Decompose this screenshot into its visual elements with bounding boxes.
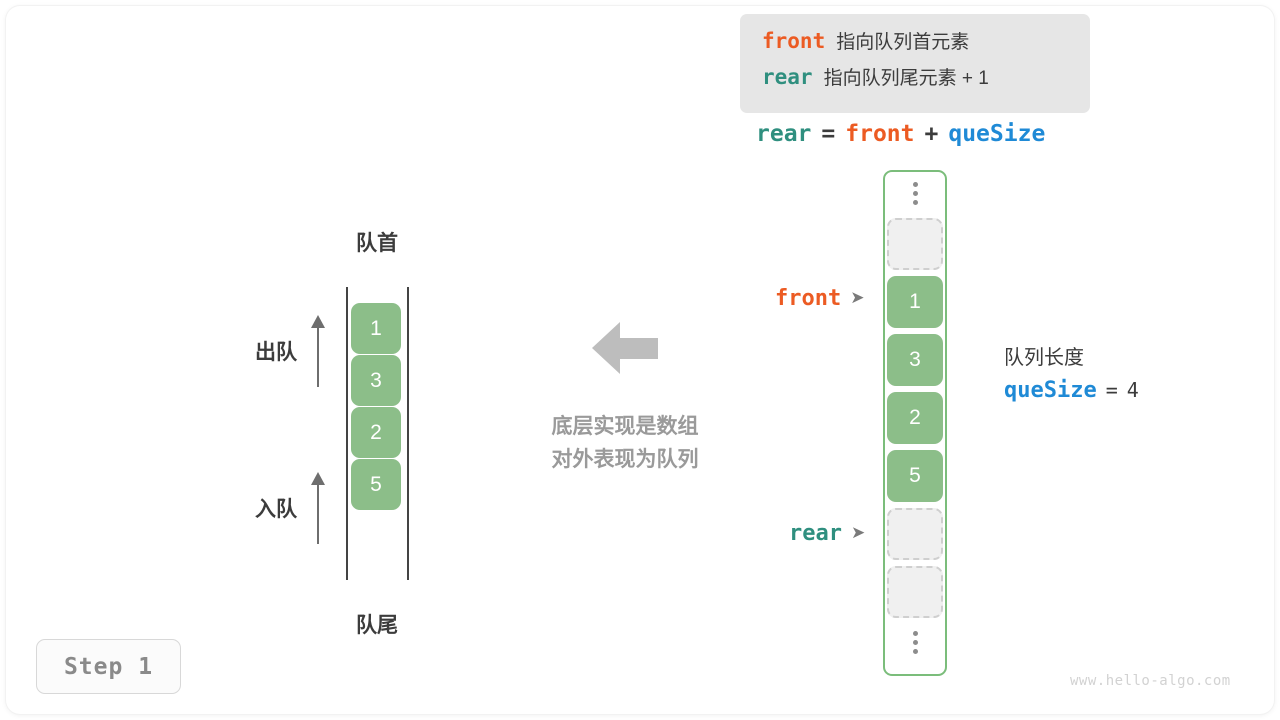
equation-term-front: front: [845, 121, 914, 147]
queue-size-equals: =: [1106, 378, 1118, 402]
queue-cell-stack: 1 3 2 5: [351, 303, 403, 510]
center-note-line-2: 对外表现为队列: [512, 443, 738, 476]
equation-operator-plus: +: [925, 121, 939, 147]
step-badge: Step 1: [36, 639, 181, 694]
pointer-front-arrowhead-icon: ➤: [850, 290, 864, 307]
enqueue-label: 入队: [255, 493, 297, 523]
queue-cell-1: 1: [351, 303, 401, 354]
queue-size-key: queSize: [1004, 378, 1097, 403]
queue-size-title: 队列长度: [1004, 341, 1139, 370]
queue-cell-2: 3: [351, 355, 401, 406]
queue-head-label: 队首: [345, 227, 409, 257]
dequeue-operation: 出队: [255, 315, 325, 387]
equation-rear-formula: rear = front + queSize: [756, 118, 1045, 150]
array-cell-value-3: 3: [887, 334, 943, 386]
pointer-rear: rear ➤: [789, 521, 865, 546]
equation-operator-equals: =: [821, 121, 835, 147]
step-badge-label: Step 1: [64, 654, 153, 680]
center-explanation-note: 底层实现是数组 对外表现为队列: [512, 410, 738, 476]
legend-keyword-front: front: [762, 29, 825, 53]
array-bottom-ellipsis-icon: [913, 621, 918, 664]
watermark: www.hello-algo.com: [1070, 673, 1231, 689]
array-cell-value-1: 1: [887, 276, 943, 328]
diagram-canvas: front 指向队列首元素 rear 指向队列尾元素 + 1 rear = fr…: [0, 0, 1280, 720]
equation-term-rear: rear: [756, 121, 811, 147]
array-cell-empty-1: [887, 508, 943, 560]
enqueue-up-arrow-icon: [311, 472, 325, 544]
queue-cell-3: 2: [351, 407, 401, 458]
queue-cell-4: 5: [351, 459, 401, 510]
legend-desc-rear: 指向队列尾元素 + 1: [824, 63, 989, 90]
queue-rail-left: [346, 287, 348, 580]
legend-line-front: front 指向队列首元素: [762, 27, 1090, 63]
legend-desc-front: 指向队列首元素: [836, 27, 969, 54]
legend-box: front 指向队列首元素 rear 指向队列尾元素 + 1: [740, 14, 1090, 113]
queue-rail-right: [407, 287, 409, 580]
queue-size-expression: queSize = 4: [1004, 378, 1139, 403]
array-cell-empty-2: [887, 566, 943, 618]
pointer-front-label: front: [775, 286, 841, 311]
pointer-rear-label: rear: [789, 521, 842, 546]
legend-line-rear: rear 指向队列尾元素 + 1: [762, 63, 1090, 99]
legend-keyword-rear: rear: [762, 65, 813, 89]
center-note-line-1: 底层实现是数组: [512, 410, 738, 443]
array-cell-empty-top: [887, 218, 943, 270]
array-top-ellipsis-icon: [913, 172, 918, 215]
queue-size-value: 4: [1127, 378, 1139, 402]
dequeue-label: 出队: [255, 336, 297, 366]
pointer-rear-arrowhead-icon: ➤: [851, 525, 865, 542]
queue-size-note: 队列长度 queSize = 4: [1004, 341, 1139, 403]
left-pointing-arrow-icon: [592, 322, 658, 374]
array-cell-value-2: 2: [887, 392, 943, 444]
array-cell-value-5: 5: [887, 450, 943, 502]
array-container: 1 3 2 5: [883, 170, 947, 676]
dequeue-up-arrow-icon: [311, 315, 325, 387]
enqueue-operation: 入队: [255, 472, 325, 544]
queue-tail-label: 队尾: [345, 609, 409, 639]
equation-term-quesize: queSize: [948, 121, 1045, 147]
pointer-front: front ➤: [775, 286, 864, 311]
